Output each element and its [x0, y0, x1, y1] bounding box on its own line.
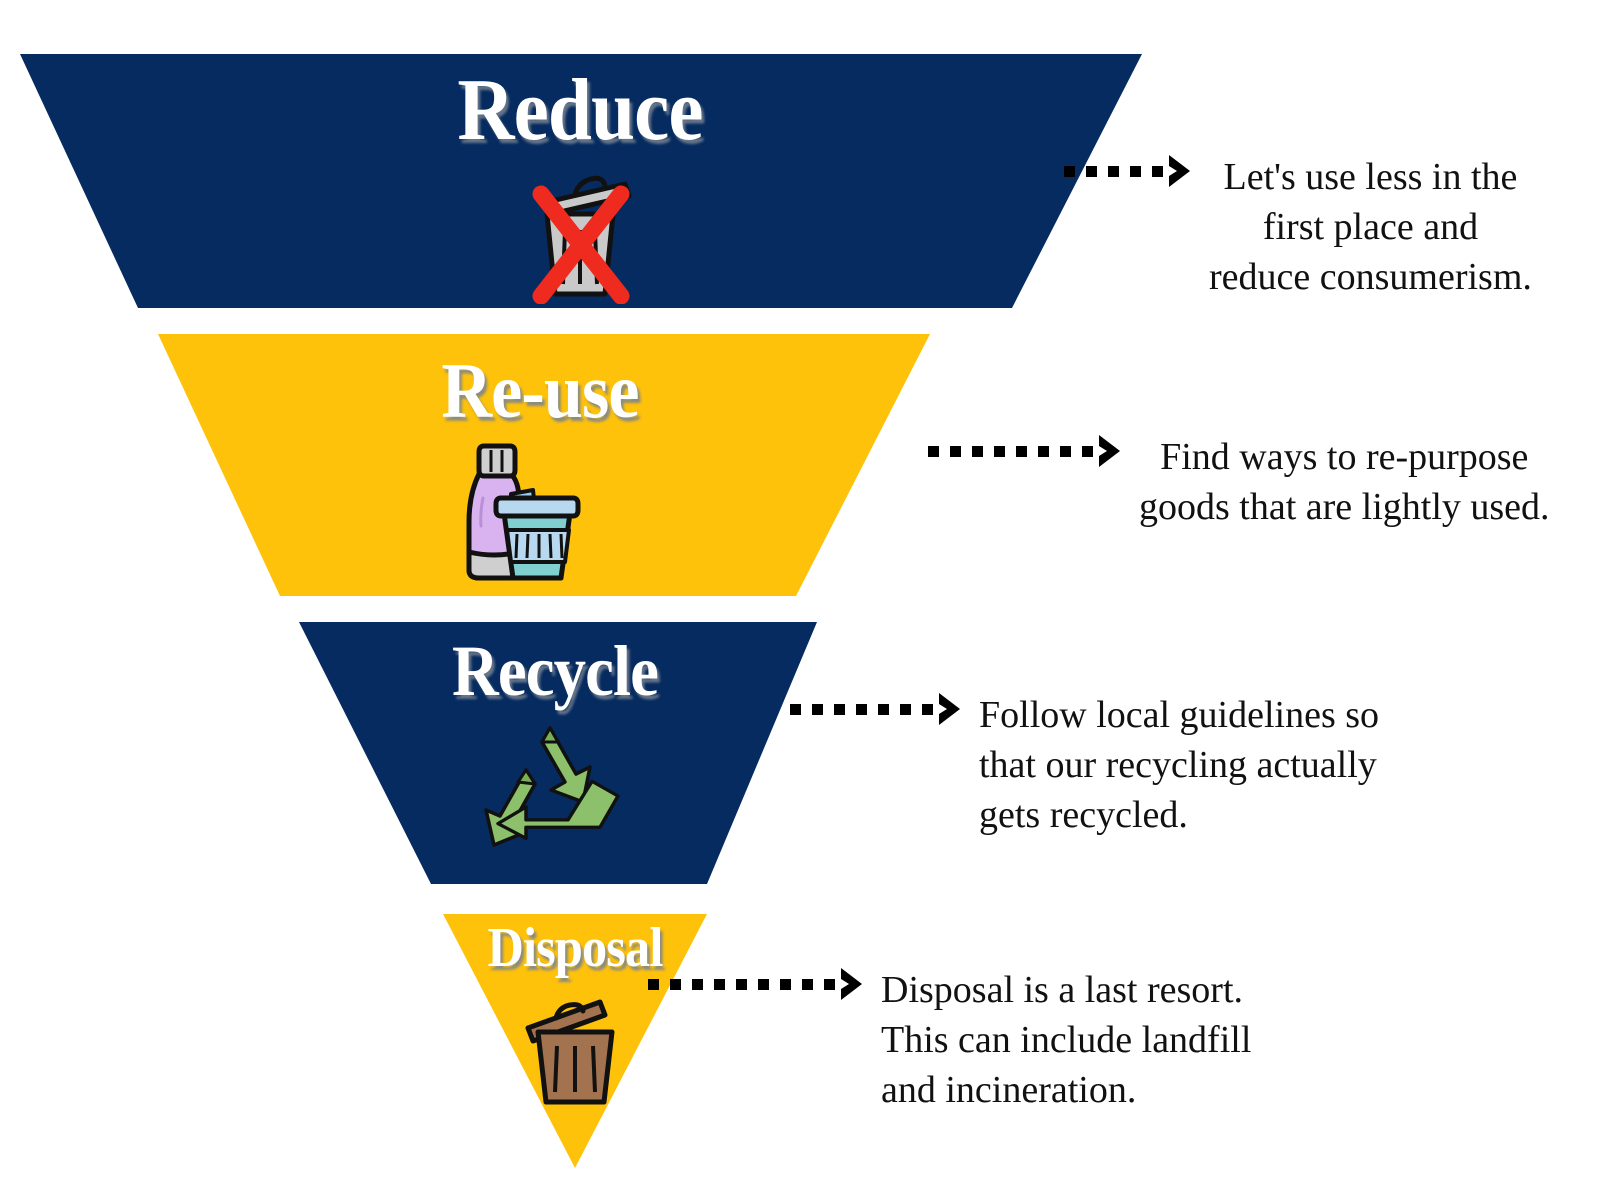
- dot: [834, 704, 845, 715]
- funnel-stage-recycle: Recycle: [285, 618, 825, 888]
- dot: [736, 979, 747, 990]
- dot: [1152, 166, 1163, 177]
- callout-text-disposal: Disposal is a last resort. This can incl…: [881, 965, 1251, 1115]
- reusable-bottle-and-cup-icon: [110, 434, 910, 582]
- callout-text-recycle: Follow local guidelines so that our recy…: [979, 690, 1379, 840]
- dot: [950, 446, 961, 457]
- dot: [1082, 446, 1093, 457]
- dot: [900, 704, 911, 715]
- dot: [790, 704, 801, 715]
- crossed-out-trash-bin-icon: [0, 168, 1160, 304]
- dot: [922, 704, 933, 715]
- dotted-arrow-disposal: [648, 965, 867, 1003]
- dotted-line: [648, 979, 835, 990]
- funnel-stage-reuse: Re-use: [140, 330, 940, 600]
- recycle-arrows-icon: [285, 718, 825, 858]
- dotted-arrow-reuse: [928, 432, 1125, 470]
- dot: [802, 979, 813, 990]
- arrowhead-icon: [1095, 432, 1125, 470]
- callout-reuse: Find ways to re-purpose goods that are l…: [928, 432, 1550, 532]
- dot: [994, 446, 1005, 457]
- dot: [824, 979, 835, 990]
- dot: [972, 446, 983, 457]
- dot: [714, 979, 725, 990]
- dot: [692, 979, 703, 990]
- dot: [1060, 446, 1071, 457]
- dot: [812, 704, 823, 715]
- arrowhead-icon: [1165, 152, 1195, 190]
- callout-text-reduce: Let's use less in the first place and re…: [1209, 152, 1532, 302]
- dotted-line: [928, 446, 1093, 457]
- dot: [1038, 446, 1049, 457]
- callout-disposal: Disposal is a last resort. This can incl…: [648, 965, 1251, 1115]
- waste-hierarchy-infographic: Reduce: [0, 0, 1600, 1200]
- callout-text-reuse: Find ways to re-purpose goods that are l…: [1139, 432, 1550, 532]
- funnel-stage-reduce: Reduce: [0, 50, 1160, 312]
- arrowhead-icon: [935, 690, 965, 728]
- dot: [670, 979, 681, 990]
- dotted-line: [790, 704, 933, 715]
- callout-reduce: Let's use less in the first place and re…: [1064, 152, 1532, 302]
- dot: [1086, 166, 1097, 177]
- dot: [928, 446, 939, 457]
- dot: [878, 704, 889, 715]
- dot: [1108, 166, 1119, 177]
- dot: [856, 704, 867, 715]
- dot: [1064, 166, 1075, 177]
- dot: [648, 979, 659, 990]
- dotted-arrow-reduce: [1064, 152, 1195, 190]
- dotted-arrow-recycle: [790, 690, 965, 728]
- arrowhead-icon: [837, 965, 867, 1003]
- dot: [1016, 446, 1027, 457]
- dot: [758, 979, 769, 990]
- callout-recycle: Follow local guidelines so that our recy…: [790, 690, 1379, 840]
- dot: [1130, 166, 1141, 177]
- dotted-line: [1064, 166, 1163, 177]
- dot: [780, 979, 791, 990]
